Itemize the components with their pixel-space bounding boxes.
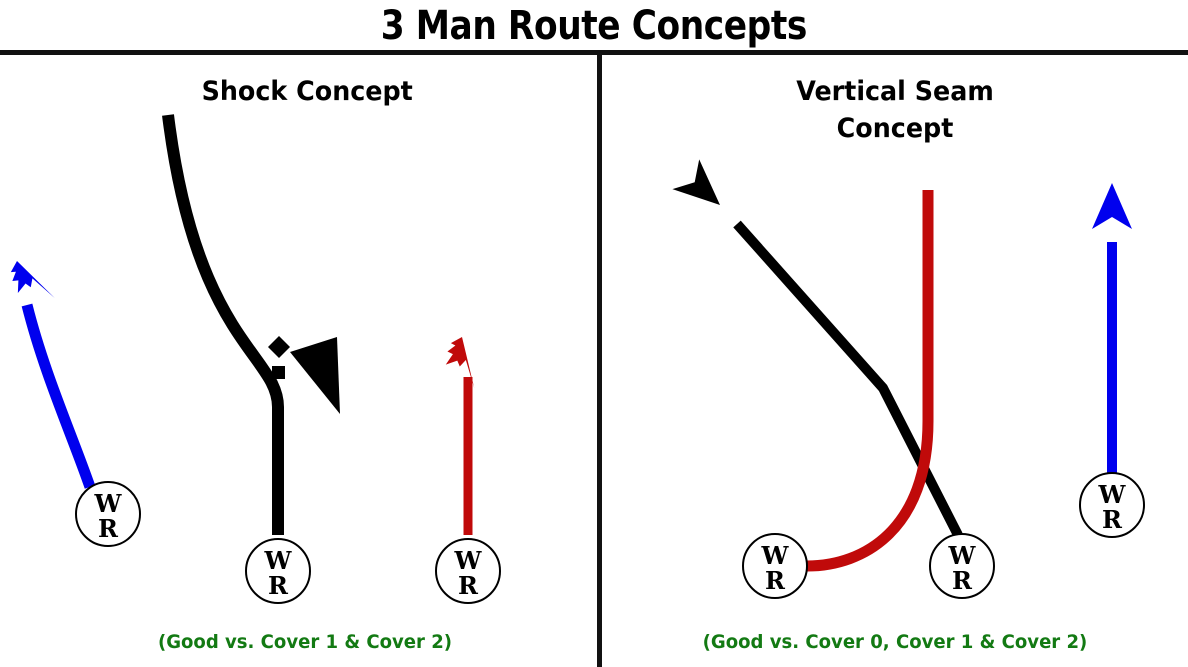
wr-label-bottom: R (1102, 505, 1123, 534)
player-marker-wr[interactable]: WR (1080, 473, 1144, 537)
wr-label-bottom: R (458, 571, 479, 600)
player-marker-wr[interactable]: WR (743, 534, 807, 598)
black-shock-break-arrowhead (290, 337, 340, 414)
wr-label-bottom: R (952, 566, 973, 595)
blue-corner (7, 254, 54, 308)
red-vertical-head (440, 334, 487, 388)
blue-go-head (1092, 183, 1132, 229)
player-marker-wr[interactable]: WR (76, 482, 140, 546)
player-marker-wr[interactable]: WR (930, 534, 994, 598)
panel-shock-concept: Shock Concept WRWRWR (Good vs. Cover 1 &… (0, 55, 597, 667)
player-marker-wr[interactable]: WR (436, 539, 500, 603)
blue-corner (27, 305, 90, 487)
vertical-seam-concept-diagram: WRWRWR (602, 55, 1188, 667)
panel-caption-vertical-seam: (Good vs. Cover 0, Cover 1 & Cover 2) (617, 631, 1174, 653)
player-marker-wr[interactable]: WR (246, 539, 310, 603)
red-vertical (440, 334, 487, 388)
page-title: 3 Man Route Concepts (381, 4, 807, 48)
route-concepts-page: 3 Man Route Concepts Shock Concept WRWRW… (0, 0, 1188, 667)
shock-concept-diagram: WRWRWR (0, 55, 597, 667)
wr-label-bottom: R (765, 566, 786, 595)
black-deep-over-head (672, 159, 733, 220)
black-shock-break-dash-square (272, 366, 285, 379)
black-shock-stem (168, 115, 278, 535)
wr-label-bottom: R (268, 571, 289, 600)
wr-label-bottom: R (98, 514, 119, 543)
panel-vertical-seam-concept: Vertical Seam Concept WRWRWR (Good vs. C… (602, 55, 1188, 667)
black-shock-break-dash-diamond (268, 336, 290, 358)
title-bar: 3 Man Route Concepts (0, 0, 1188, 52)
blue-corner-head (7, 254, 54, 308)
